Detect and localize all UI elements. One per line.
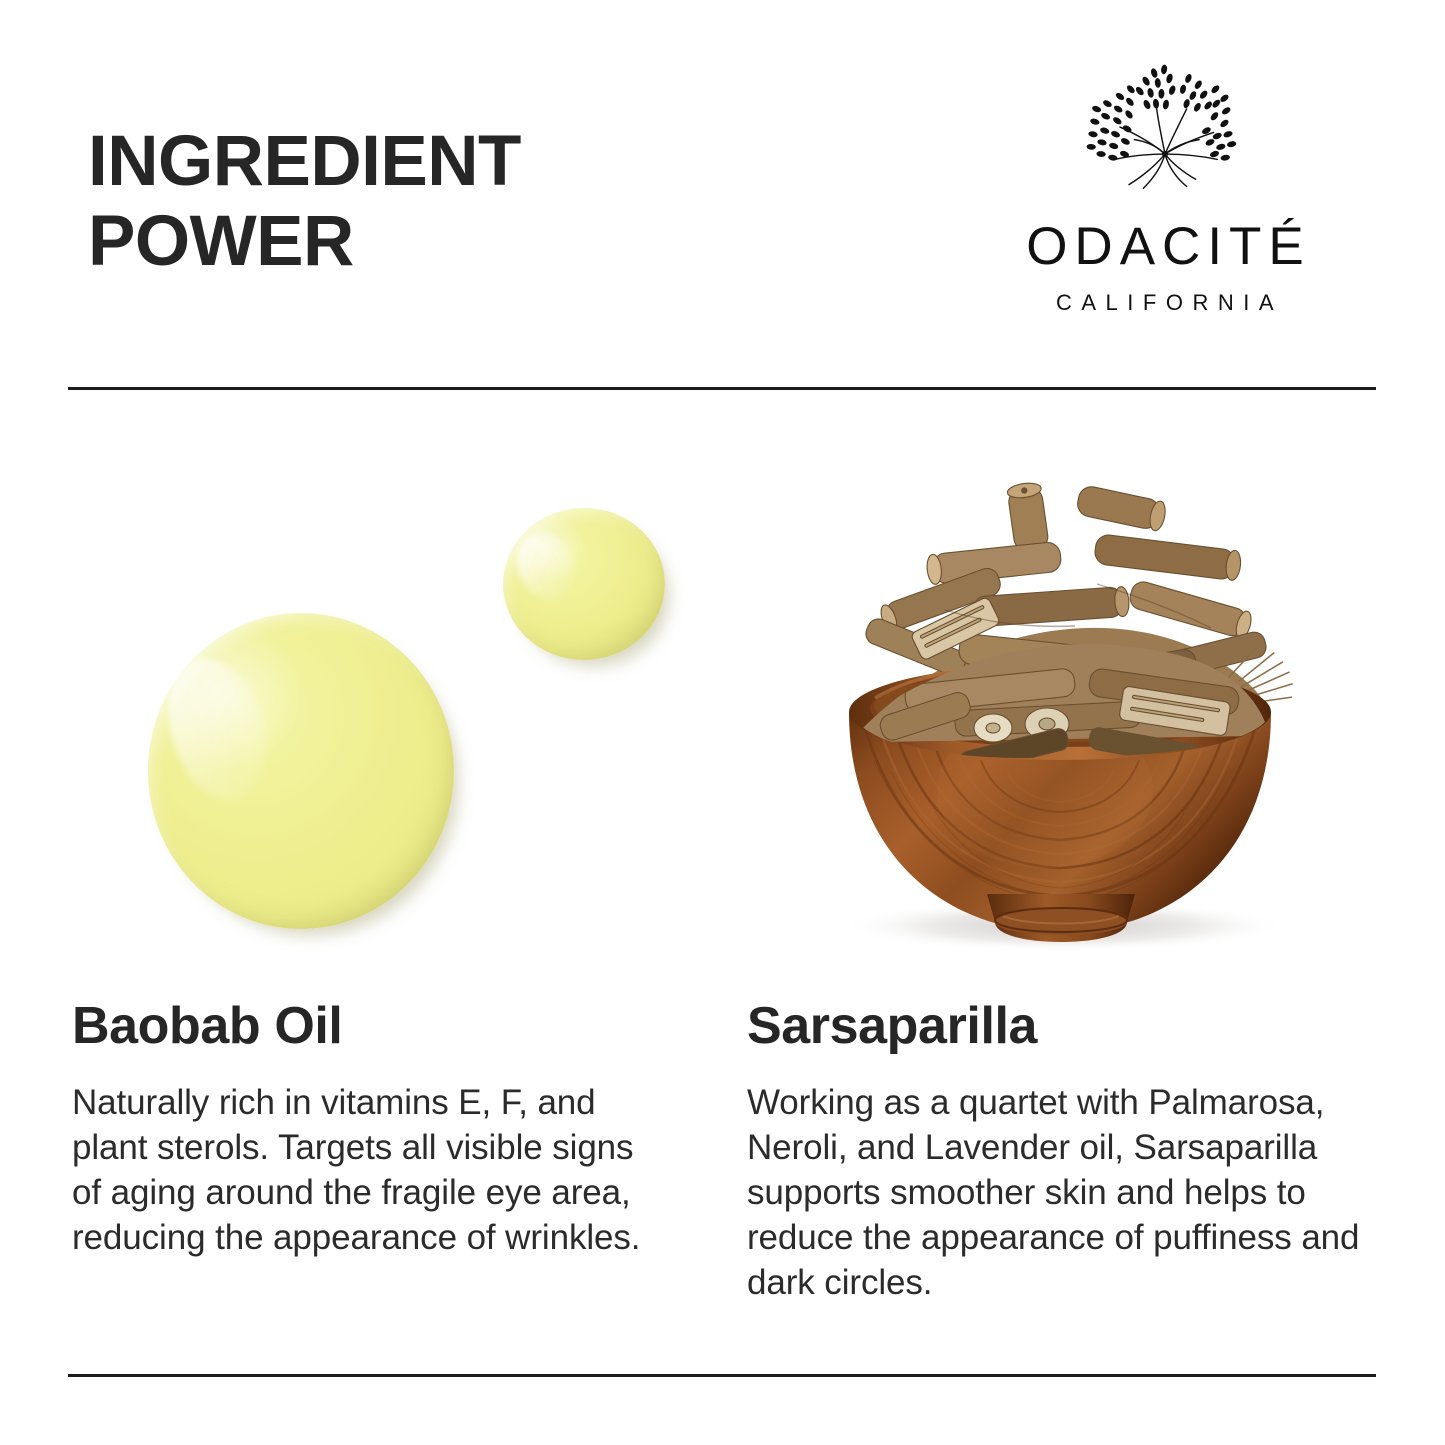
page-title-line-1: INGREDIENT	[88, 122, 708, 202]
page-title-line-2: POWER	[88, 202, 708, 282]
brand-logo: ODACITÉ CALIFORNIA	[955, 52, 1375, 352]
divider-top	[68, 387, 1376, 390]
ingredient-description: Naturally rich in vitamins E, F, and pla…	[72, 1080, 652, 1260]
divider-bottom	[68, 1374, 1376, 1377]
logo-subtitle: CALIFORNIA	[1047, 292, 1283, 314]
ingredient-title: Sarsaparilla	[747, 1000, 1037, 1052]
page-title: INGREDIENT POWER	[88, 122, 708, 281]
header: INGREDIENT POWER	[0, 0, 1445, 390]
oil-droplet-small-highlight	[508, 525, 583, 607]
ingredient-card-baobab-oil: Baobab Oil Naturally rich in vitamins E,…	[60, 430, 710, 1330]
ingredient-card-sarsaparilla: Sarsaparilla Working as a quartet with P…	[735, 430, 1385, 1330]
ingredient-description: Working as a quartet with Palmarosa, Ner…	[747, 1080, 1387, 1305]
ingredient-title: Baobab Oil	[72, 1000, 342, 1052]
botanical-umbel-icon	[1075, 52, 1255, 212]
oil-droplet-small	[503, 508, 665, 660]
oil-droplet-large-highlight	[152, 647, 284, 814]
oil-droplet-large	[148, 613, 454, 929]
ingredient-cards: Baobab Oil Naturally rich in vitamins E,…	[0, 430, 1445, 1330]
sarsaparilla-roots-bowl-image	[735, 430, 1385, 960]
wooden-bowl-scene	[745, 460, 1375, 960]
logo-wordmark: ODACITÉ	[1019, 220, 1311, 273]
oil-droplets-image	[60, 430, 710, 960]
